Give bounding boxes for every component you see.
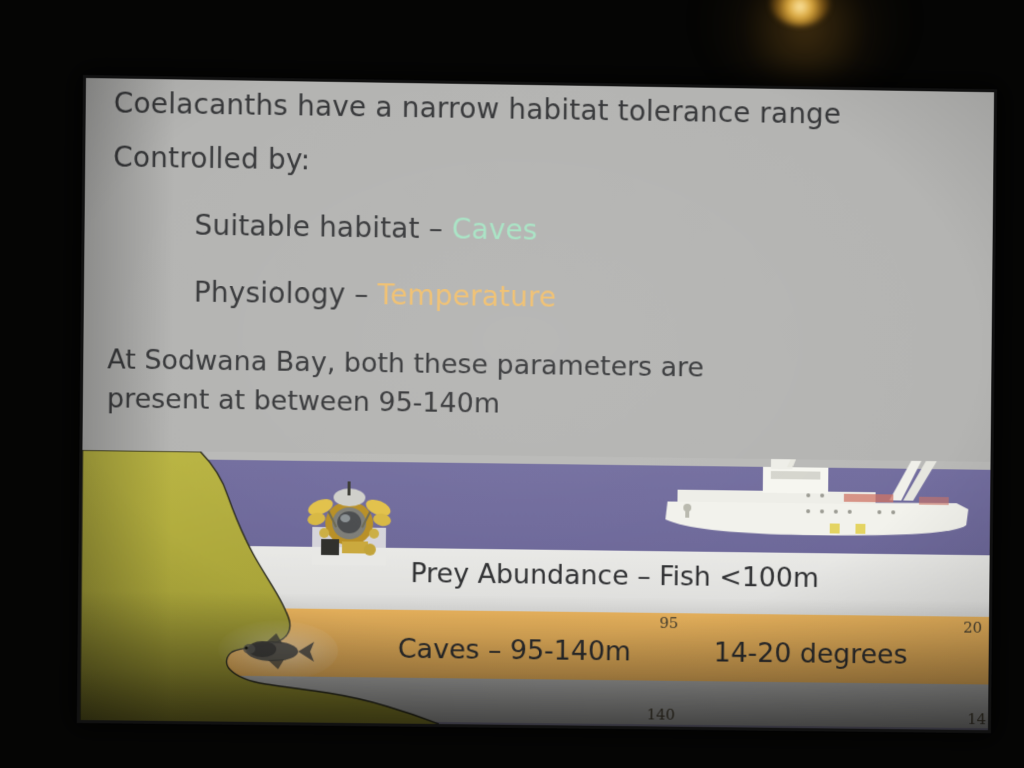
habitat-depth-diagram: Prey Abundance – Fish <100m Caves – 95-1…	[80, 450, 991, 730]
bullet-suitable-habitat-prefix: Suitable habitat –	[194, 209, 452, 246]
depth-tick-140: 140	[647, 705, 676, 723]
room-light-halo	[700, 0, 910, 100]
bullet-physiology-highlight: Temperature	[378, 278, 557, 313]
controlled-by-label: Controlled by:	[113, 140, 310, 176]
page-title: Coelacanths have a narrow habitat tolera…	[114, 86, 842, 130]
bullet-physiology-prefix: Physiology –	[194, 276, 378, 312]
paragraph-line-2: present at between 95-140m	[107, 379, 704, 426]
caves-depth-label: Caves – 95-140m	[398, 634, 632, 668]
projected-slide-photo: Coelacanths have a narrow habitat tolera…	[0, 0, 1024, 768]
temperature-range-label: 14-20 degrees	[714, 638, 908, 671]
ceiling-light-icon	[770, 0, 830, 26]
submersible-icon	[306, 475, 393, 572]
sodwana-bay-paragraph: At Sodwana Bay, both these parameters ar…	[107, 340, 704, 426]
bullet-suitable-habitat: Suitable habitat – Caves	[194, 209, 537, 247]
depth-tick-95: 95	[659, 614, 678, 632]
projection-screen: Coelacanths have a narrow habitat tolera…	[80, 78, 994, 730]
coelacanth-fish-icon	[232, 628, 318, 673]
temperature-tick-14: 14	[967, 710, 986, 728]
presentation-slide: Coelacanths have a narrow habitat tolera…	[80, 78, 994, 730]
research-vessel-icon	[659, 450, 977, 549]
prey-abundance-label: Prey Abundance – Fish <100m	[410, 558, 819, 594]
temperature-tick-20: 20	[963, 619, 982, 637]
bullet-suitable-habitat-highlight: Caves	[452, 212, 538, 246]
bullet-physiology: Physiology – Temperature	[194, 276, 557, 314]
